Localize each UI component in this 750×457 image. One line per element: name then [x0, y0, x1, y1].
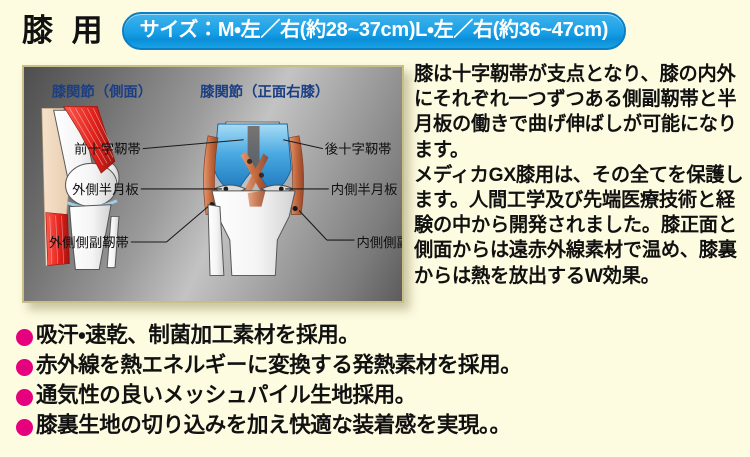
size-badge-label: サイズ：M・左／右(約28~37cm)L・左／右(約36~47cm)	[140, 20, 608, 42]
feature-label: 赤外線を熱エネルギーに変換する発熱素材を採用。	[36, 355, 521, 379]
size-badge: サイズ：M・左／右(約28~37cm)L・左／右(約36~47cm)	[122, 12, 626, 50]
knee-frontal-view	[204, 122, 304, 275]
label-lateral-meniscus: 外側半月板	[72, 182, 139, 197]
feature-list: 吸汗・速乾、制菌加工素材を採用。 赤外線を熱エネルギーに変換する発熱素材を採用。…	[0, 322, 750, 442]
feature-label: 通気性の良いメッシュパイル生地採用。	[36, 385, 416, 409]
list-item: 赤外線を熱エネルギーに変換する発熱素材を採用。	[0, 352, 750, 382]
label-anterior-cruciate: 前十字靭帯	[74, 141, 141, 157]
label-medial-collateral: 内側側副靭帯	[356, 235, 402, 250]
label-lateral-collateral: 外側側副靭帯	[49, 235, 129, 250]
label-medial-meniscus: 内側半月板	[331, 182, 398, 197]
feature-label: 膝裏生地の切り込みを加え快適な装着感を実現。。	[36, 415, 511, 439]
list-item: 吸汗・速乾、制菌加工素材を採用。	[0, 322, 750, 352]
label-posterior-cruciate: 後十字靭帯	[325, 142, 392, 157]
feature-label: 吸汗・速乾、制菌加工素材を採用。	[36, 325, 359, 349]
knee-anatomy-panel: 膝関節（側面） 膝関節（正面右膝） 前十字靭帯 後十字靭帯 外側半月板 内側半月…	[22, 65, 404, 303]
bullet-circle-icon	[16, 419, 33, 436]
list-item: 通気性の良いメッシュパイル生地採用。	[0, 382, 750, 412]
bullet-circle-icon	[16, 329, 33, 346]
product-description: 膝は十字靭帯が支点となり、膝の内外にそれぞれ一つずつある側副靭帯と半月板の働きで…	[414, 62, 746, 289]
bullet-circle-icon	[16, 389, 33, 406]
page-title: 膝 用	[22, 15, 108, 48]
diagram-heading-lateral: 膝関節（側面）	[52, 83, 152, 101]
diagram-heading-frontal: 膝関節（正面右膝）	[200, 83, 329, 101]
list-item: 膝裏生地の切り込みを加え快適な装着感を実現。。	[0, 412, 750, 442]
bullet-circle-icon	[16, 359, 33, 376]
knee-anatomy-diagram: 膝関節（側面） 膝関節（正面右膝） 前十字靭帯 後十字靭帯 外側半月板 内側半月…	[24, 67, 402, 301]
content-middle: 膝関節（側面） 膝関節（正面右膝） 前十字靭帯 後十字靭帯 外側半月板 内側半月…	[0, 62, 750, 320]
page-header: 膝 用 サイズ：M・左／右(約28~37cm)L・左／右(約36~47cm)	[0, 0, 750, 62]
